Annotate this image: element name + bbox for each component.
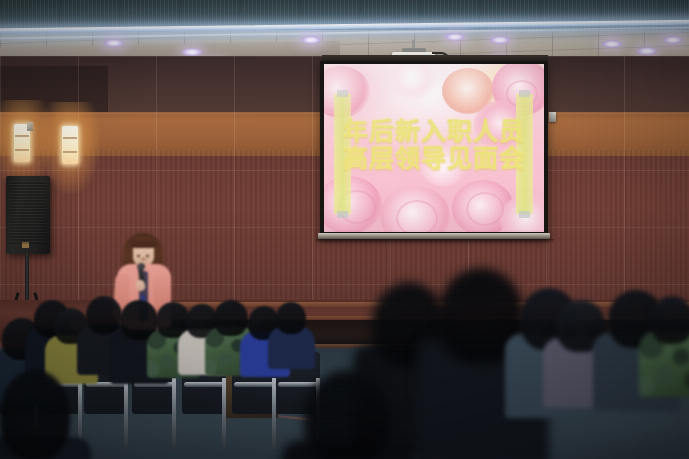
recessed-downlight (301, 36, 321, 44)
rose-swirl-detail (396, 200, 438, 232)
audience-member (0, 370, 70, 459)
sconce-bar (63, 151, 77, 153)
audience-member-head (214, 300, 248, 336)
wall-mounted-sensor-icon (27, 122, 33, 131)
rose-swirl-detail (466, 192, 504, 226)
recessed-downlight (182, 48, 202, 56)
presenter-eye (146, 255, 149, 257)
scroll-cap (337, 90, 348, 97)
presenter-fringe (131, 236, 156, 248)
recessed-downlight (445, 33, 465, 41)
speaker-stand-pole (25, 252, 29, 304)
auditorium-photo: 年后新入职人员 高层领导见面会 (0, 0, 689, 459)
speaker-badge (22, 242, 29, 248)
audience-member-head (86, 296, 122, 334)
rose-graphic (390, 64, 438, 100)
slide-title-line-1: 年后新入职人员 (332, 118, 536, 145)
slide-title-line-2: 高层领导见面会 (332, 145, 536, 172)
screen-bar-shadow (316, 239, 554, 243)
sconce-bar (15, 149, 29, 151)
audience-member (650, 296, 689, 404)
presenter-mouth (141, 258, 146, 260)
recessed-downlight (490, 36, 510, 44)
audience-member-head (276, 302, 306, 334)
projection-screen: 年后新入职人员 高层领导见面会 (324, 64, 544, 232)
audience-member-head (0, 370, 70, 459)
audience-member-head (304, 370, 390, 459)
scroll-cap (519, 90, 530, 97)
pa-loudspeaker (6, 176, 50, 254)
audience-member (304, 370, 390, 459)
audience-member-head (650, 296, 689, 344)
recessed-downlight (104, 39, 124, 47)
audience-member (276, 302, 306, 394)
scroll-cap (519, 211, 530, 218)
wall-mounted-sensor-icon (549, 112, 556, 122)
scroll-cap (337, 211, 348, 218)
sconce-bar (15, 135, 29, 137)
recessed-downlight (637, 47, 657, 55)
rose-graphic (442, 68, 494, 114)
sconce-glass (62, 126, 78, 164)
slide-title: 年后新入职人员 高层领导见面会 (332, 118, 536, 172)
recessed-downlight (663, 36, 683, 44)
sconce-bar (63, 137, 77, 139)
wall-sconce-right (62, 126, 78, 164)
presenter-eye (137, 255, 140, 257)
recessed-downlight (602, 40, 622, 48)
